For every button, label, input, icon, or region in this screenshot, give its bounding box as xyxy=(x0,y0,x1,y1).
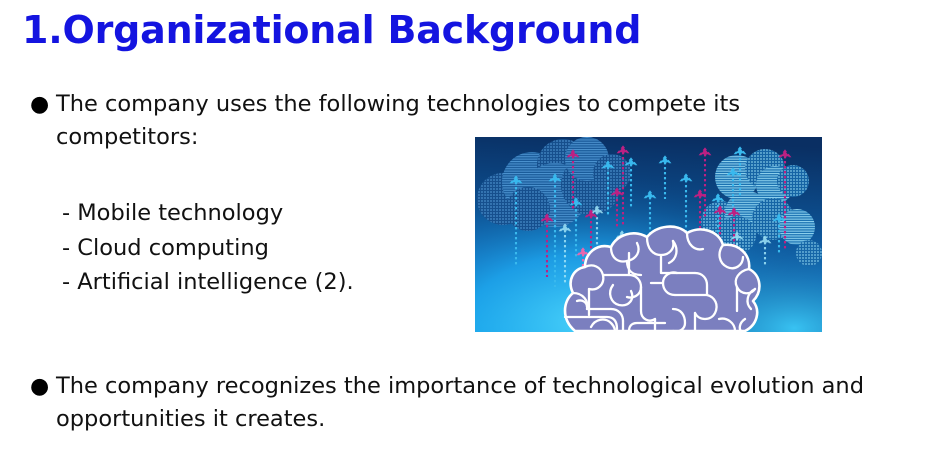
brain-cloud-illustration xyxy=(475,137,822,332)
bullet-marker-icon: ● xyxy=(22,370,56,403)
technology-sub-list: - Mobile technology - Cloud computing - … xyxy=(62,196,354,300)
list-item: - Mobile technology xyxy=(62,196,354,231)
page-title: 1.Organizational Background xyxy=(22,8,641,53)
list-item: - Cloud computing xyxy=(62,231,354,266)
list-item: - Artificial intelligence (2). xyxy=(62,265,354,300)
bullet-marker-icon: ● xyxy=(22,88,56,121)
bullet-item-2: ● The company recognizes the importance … xyxy=(22,370,946,436)
bullet-text-2: The company recognizes the importance of… xyxy=(56,370,946,436)
